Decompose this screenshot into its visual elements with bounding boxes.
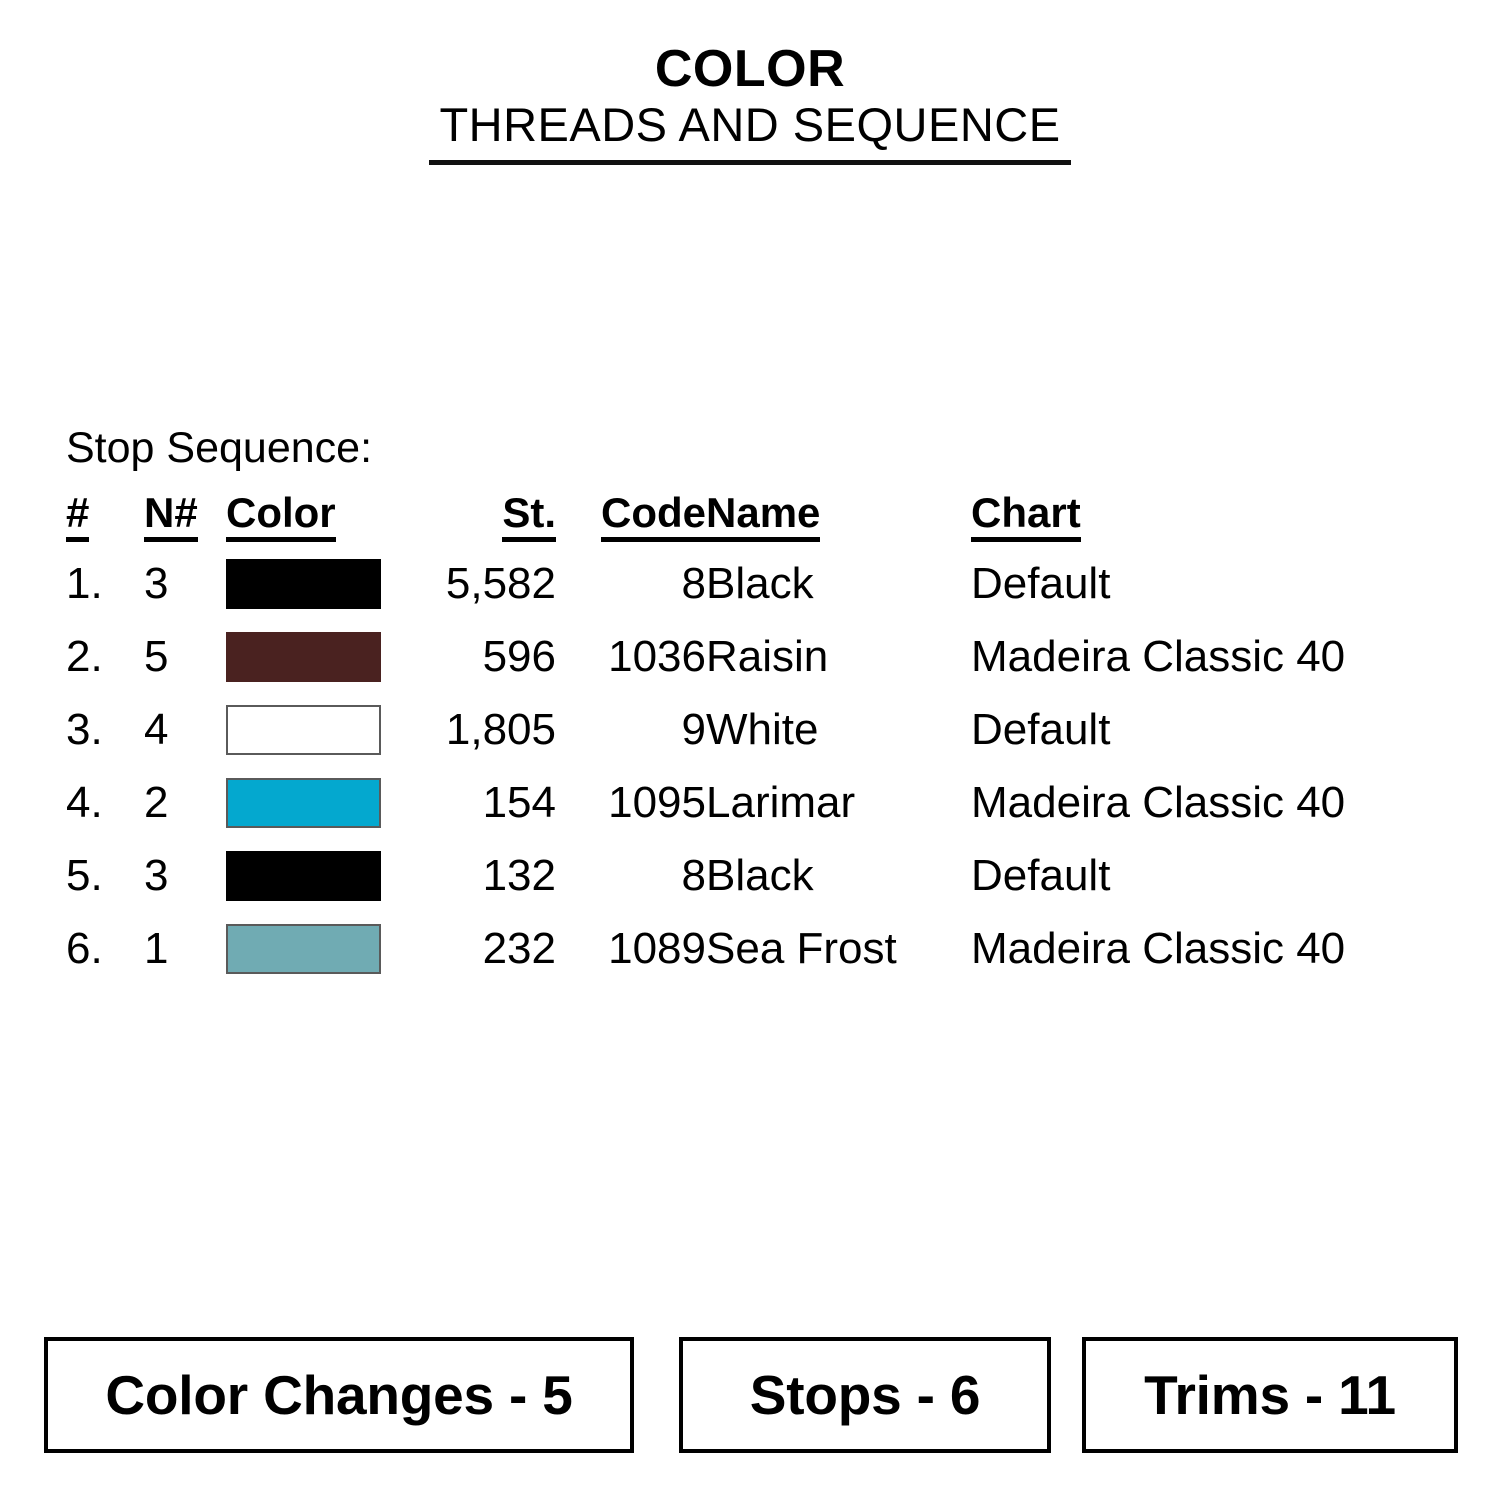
summary-box-color-changes: Color Changes - 5 (44, 1337, 634, 1453)
cell-name: Black (706, 547, 971, 620)
cell-color (226, 839, 401, 912)
cell-color (226, 693, 401, 766)
column-header-chart: Chart (971, 484, 1446, 547)
summary-row: Color Changes - 5 Stops - 6 Trims - 11 (44, 1337, 1458, 1453)
cell-index: 4. (66, 766, 144, 839)
page-title: COLOR (0, 42, 1500, 96)
table-row: 3. 4 1,805 9 White Default (66, 693, 1446, 766)
trims-label: Trims - 11 (1144, 1368, 1396, 1423)
cell-name: White (706, 693, 971, 766)
thread-sequence-table: # N# Color St. Code Name Chart (66, 484, 1446, 985)
color-swatch (226, 705, 381, 755)
cell-color (226, 620, 401, 693)
cell-index: 1. (66, 547, 144, 620)
table-row: 2. 5 596 1036 Raisin Madeira Classic 40 (66, 620, 1446, 693)
column-header-chart-label: Chart (971, 492, 1081, 542)
cell-stitches: 1,805 (401, 693, 556, 766)
column-header-index-label: # (66, 492, 89, 542)
color-changes-label: Color Changes - 5 (105, 1368, 572, 1423)
cell-index: 5. (66, 839, 144, 912)
column-header-code: Code (556, 484, 706, 547)
column-header-needle: N# (144, 484, 226, 547)
cell-color (226, 912, 401, 985)
cell-index: 2. (66, 620, 144, 693)
table-row: 4. 2 154 1095 Larimar Madeira Classic 40 (66, 766, 1446, 839)
cell-index: 3. (66, 693, 144, 766)
cell-needle: 3 (144, 547, 226, 620)
summary-box-stops: Stops - 6 (679, 1337, 1051, 1453)
page-subtitle: THREADS AND SEQUENCE (439, 100, 1060, 150)
cell-code: 1095 (556, 766, 706, 839)
cell-stitches: 132 (401, 839, 556, 912)
cell-color (226, 547, 401, 620)
cell-chart: Default (971, 547, 1446, 620)
cell-chart: Default (971, 693, 1446, 766)
column-header-index: # (66, 484, 144, 547)
color-swatch (226, 851, 381, 901)
color-swatch (226, 924, 381, 974)
cell-stitches: 154 (401, 766, 556, 839)
cell-name: Black (706, 839, 971, 912)
cell-chart: Madeira Classic 40 (971, 912, 1446, 985)
column-header-color-label: Color (226, 492, 336, 542)
stop-sequence-label: Stop Sequence: (66, 424, 1466, 473)
column-header-name: Name (706, 484, 971, 547)
column-header-needle-label: N# (144, 492, 198, 542)
column-header-stitches-label: St. (502, 492, 556, 542)
cell-stitches: 596 (401, 620, 556, 693)
cell-chart: Default (971, 839, 1446, 912)
cell-index: 6. (66, 912, 144, 985)
column-header-stitches: St. (401, 484, 556, 547)
cell-code: 1036 (556, 620, 706, 693)
cell-name: Larimar (706, 766, 971, 839)
cell-chart: Madeira Classic 40 (971, 766, 1446, 839)
cell-needle: 2 (144, 766, 226, 839)
column-header-color: Color (226, 484, 401, 547)
cell-chart: Madeira Classic 40 (971, 620, 1446, 693)
document-header: COLOR THREADS AND SEQUENCE (0, 42, 1500, 165)
cell-code: 1089 (556, 912, 706, 985)
cell-code: 9 (556, 693, 706, 766)
column-header-code-label: Code (601, 492, 706, 542)
table-row: 1. 3 5,582 8 Black Default (66, 547, 1446, 620)
stops-label: Stops - 6 (750, 1368, 980, 1423)
cell-code: 8 (556, 839, 706, 912)
page-subtitle-underline: THREADS AND SEQUENCE (429, 100, 1070, 165)
table-header-row: # N# Color St. Code Name Chart (66, 484, 1446, 547)
cell-needle: 5 (144, 620, 226, 693)
cell-code: 8 (556, 547, 706, 620)
column-header-name-label: Name (706, 492, 820, 542)
table-row: 6. 1 232 1089 Sea Frost Madeira Classic … (66, 912, 1446, 985)
color-swatch (226, 778, 381, 828)
table-row: 5. 3 132 8 Black Default (66, 839, 1446, 912)
color-swatch (226, 559, 381, 609)
cell-needle: 3 (144, 839, 226, 912)
cell-stitches: 232 (401, 912, 556, 985)
stop-sequence-section: Stop Sequence: # N# Color St. (66, 424, 1466, 985)
cell-needle: 1 (144, 912, 226, 985)
summary-box-trims: Trims - 11 (1082, 1337, 1458, 1453)
cell-needle: 4 (144, 693, 226, 766)
table-body: 1. 3 5,582 8 Black Default 2. 5 596 1036… (66, 547, 1446, 985)
cell-color (226, 766, 401, 839)
cell-stitches: 5,582 (401, 547, 556, 620)
cell-name: Sea Frost (706, 912, 971, 985)
color-swatch (226, 632, 381, 682)
cell-name: Raisin (706, 620, 971, 693)
